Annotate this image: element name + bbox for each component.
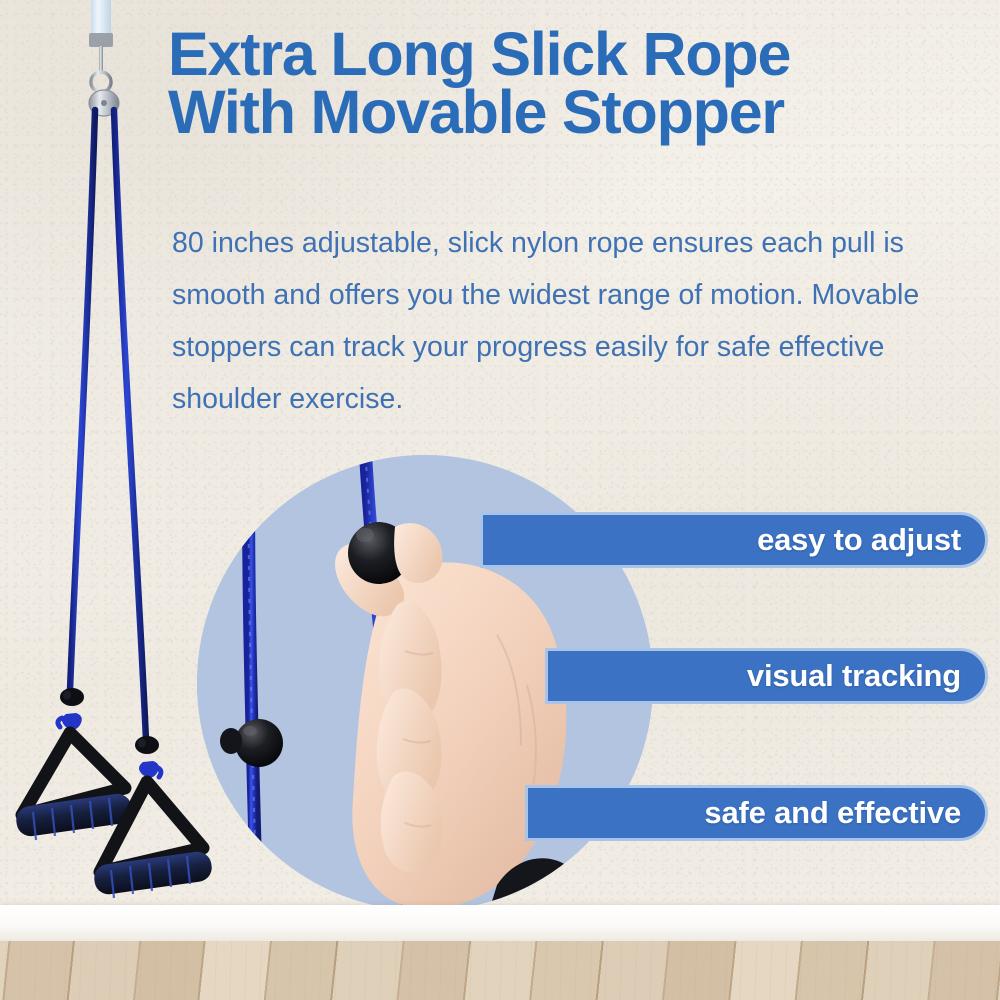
stopper-left <box>60 688 84 706</box>
handle-left <box>14 733 133 840</box>
feature-badge-safe-and-effective[interactable]: safe and effective <box>525 785 988 841</box>
product-infographic: Extra Long Slick Rope With Movable Stopp… <box>0 0 1000 1000</box>
feature-badge-easy-to-adjust[interactable]: easy to adjust <box>480 512 988 568</box>
carabiner <box>91 46 111 92</box>
page-title: Extra Long Slick Rope With Movable Stopp… <box>168 26 992 142</box>
feature-badge-label: visual tracking <box>747 658 961 694</box>
feature-badge-label: safe and effective <box>704 795 961 831</box>
rope-right <box>114 110 146 740</box>
rope-left <box>70 110 95 690</box>
wood-floor <box>0 941 1000 1000</box>
feature-badge-visual-tracking[interactable]: visual tracking <box>545 648 988 704</box>
baseboard <box>0 905 1000 943</box>
floor-grain <box>0 941 1000 1000</box>
feature-badge-label: easy to adjust <box>757 522 961 558</box>
rope-knot-right <box>139 761 161 778</box>
hanging-strap <box>89 0 113 47</box>
description-paragraph: 80 inches adjustable, slick nylon rope e… <box>172 218 972 425</box>
stopper-right <box>135 736 159 754</box>
